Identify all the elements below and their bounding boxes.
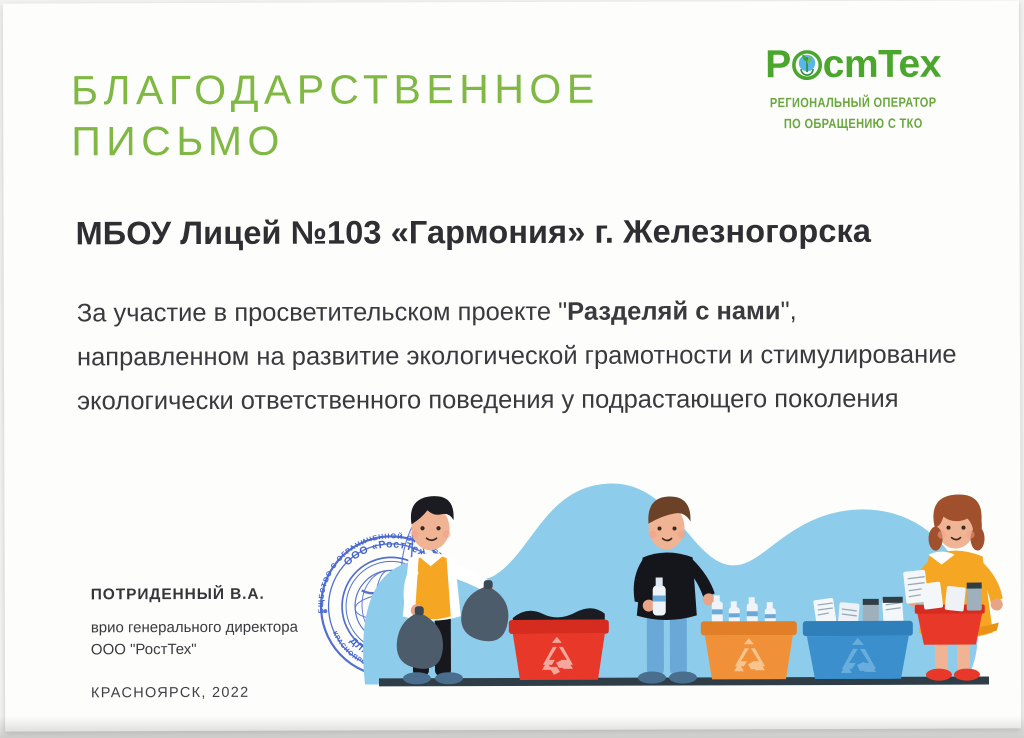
red-bin <box>509 608 609 680</box>
logo-wordmark-after: cmTex <box>823 45 941 84</box>
logo-wordmark-before: Р <box>765 45 791 84</box>
rostteh-logo: Р cmTex РЕГИОНАЛЬНЫЙ ОПЕРАТОР ПО ОБРАЩЕН… <box>743 45 963 136</box>
project-name: Разделяй с нами <box>567 297 781 326</box>
place-and-year: КРАСНОЯРСК, 2022 <box>91 685 249 701</box>
body-rest: направленном на развитие экологической г… <box>77 340 957 415</box>
body-lead: За участие в просветительском проекте " <box>77 298 567 328</box>
page-title: БЛАГОДАРСТВЕННОЕ ПИСЬМО <box>71 63 671 167</box>
certificate-sheet: БЛАГОДАРСТВЕННОЕ ПИСЬМО Р cmTex РЕГ <box>3 0 1021 731</box>
recipient-name: МБОУ Лицей №103 «Гармония» г. Железногор… <box>76 213 966 253</box>
award-reason-text: За участие в просветительском проекте "Р… <box>77 290 957 424</box>
body-after-quote: ", <box>781 297 797 325</box>
recycling-illustration <box>356 452 1021 730</box>
logo-wordmark: Р cmTex <box>743 45 963 85</box>
blue-bin <box>803 597 913 679</box>
logo-subtitle: РЕГИОНАЛЬНЫЙ ОПЕРАТОР ПО ОБРАЩЕНИЮ С ТКО <box>763 93 944 135</box>
red-paper-box <box>915 581 985 644</box>
globe-leaf-icon <box>792 50 822 80</box>
scan-background: БЛАГОДАРСТВЕННОЕ ПИСЬМО Р cmTex РЕГ <box>0 0 1024 738</box>
